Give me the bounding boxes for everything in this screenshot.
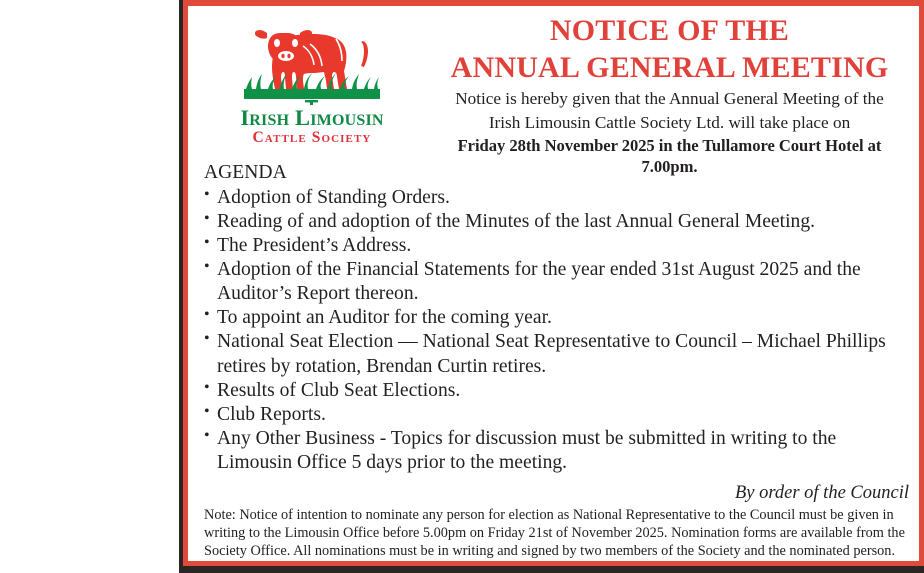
notice-header: Irish Limousin Cattle Society NOTICE OF … [196,9,911,161]
list-item: Adoption of Standing Orders. [204,186,909,210]
list-item: To appoint an Auditor for the coming yea… [204,306,909,330]
page-gutter-bottom [179,566,924,573]
agenda-list: Adoption of Standing Orders. Reading of … [204,186,909,475]
notice-title-line-2: ANNUAL GENERAL MEETING [428,50,911,87]
notice-title-line-1: NOTICE OF THE [428,13,911,50]
list-item: The President’s Address. [204,234,909,258]
list-item: National Seat Election — National Seat R… [204,330,909,378]
notice-title-block: NOTICE OF THE ANNUAL GENERAL MEETING Not… [428,9,911,178]
notice-statement-line-2: Irish Limousin Cattle Society Ltd. will … [428,112,911,134]
limousin-bull-icon [224,13,400,105]
nomination-note: Note: Notice of intention to nominate an… [196,504,911,561]
list-item: Adoption of the Financial Statements for… [204,258,909,306]
agenda-heading: AGENDA [204,161,909,185]
list-item: Club Reports. [204,403,909,427]
list-item: Reading of and adoption of the Minutes o… [204,210,909,234]
agenda-section: AGENDA Adoption of Standing Orders. Read… [196,161,911,480]
agm-notice-advert: Irish Limousin Cattle Society NOTICE OF … [183,0,924,566]
logo-wordmark-irish-limousin: Irish Limousin [196,106,428,130]
notice-statement-line-1: Notice is hereby given that the Annual G… [428,88,911,110]
logo-wordmark-cattle-society: Cattle Society [196,129,428,146]
society-logo: Irish Limousin Cattle Society [196,9,428,146]
list-item: Results of Club Seat Elections. [204,379,909,403]
by-order-of-the-council: By order of the Council [196,483,911,504]
list-item: Any Other Business - Topics for discussi… [204,427,909,475]
